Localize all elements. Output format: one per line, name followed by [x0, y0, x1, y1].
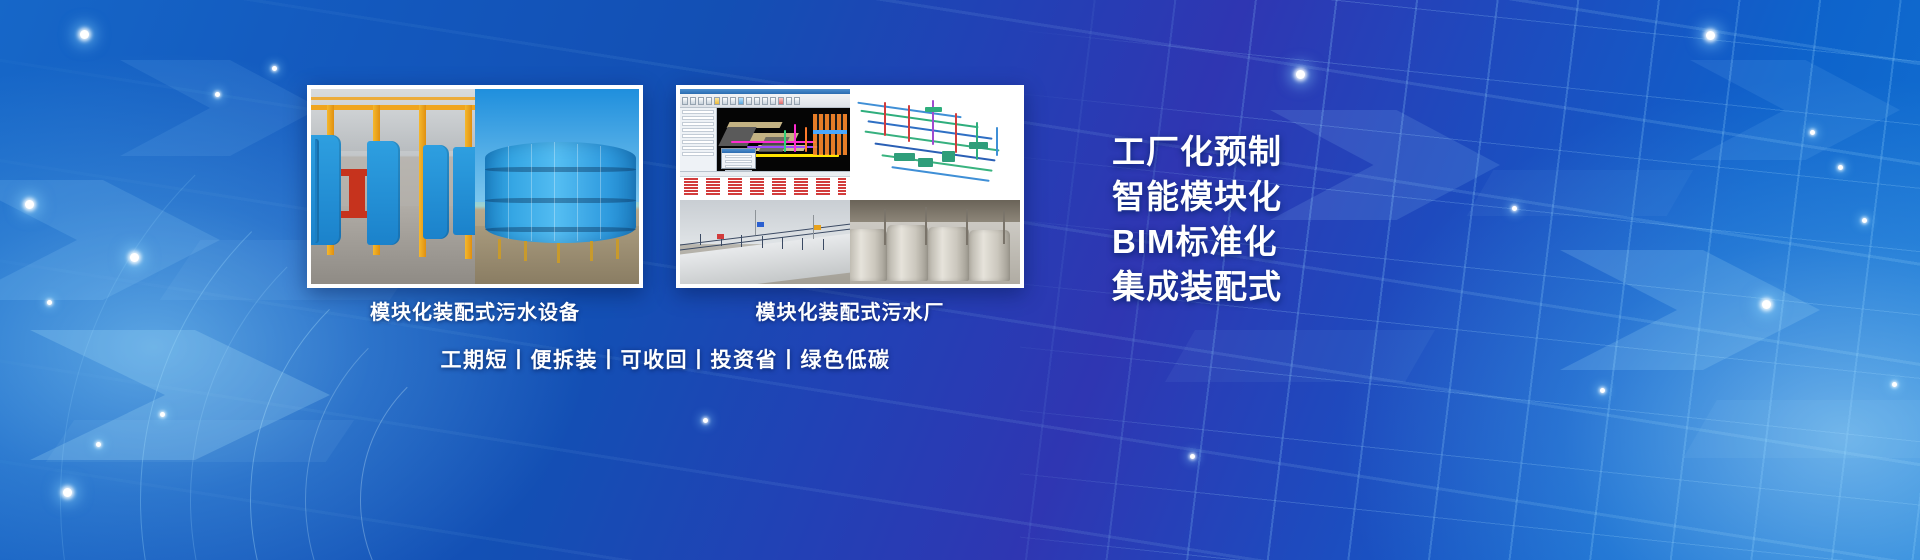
- card-equipment[interactable]: [307, 85, 643, 288]
- polygon-shard-decoration: [46, 420, 354, 462]
- chevron-decoration: [1270, 110, 1500, 220]
- chevron-decoration: [120, 60, 320, 156]
- headline-line-4: 集成装配式: [1112, 268, 1282, 307]
- glow-dot: [215, 92, 220, 97]
- caption-equipment: 模块化装配式污水设备: [307, 296, 643, 325]
- glow-dot: [130, 253, 139, 262]
- chevron-decoration: [1690, 60, 1900, 160]
- flag-icon: [717, 234, 724, 239]
- photo-piping-isometric: [850, 89, 1020, 200]
- glow-dot: [703, 418, 708, 423]
- glow-dot: [1512, 206, 1517, 211]
- photo-grey-tanks: [850, 200, 1020, 284]
- photo-bim-cad-software: [680, 89, 850, 200]
- glow-dot: [1892, 382, 1897, 387]
- caption-plant: 模块化装配式污水厂: [676, 296, 1024, 325]
- glow-dot: [63, 488, 72, 497]
- photo-blue-panels-workshop: [311, 89, 475, 284]
- glow-dot: [96, 442, 101, 447]
- glow-dot: [1600, 388, 1605, 393]
- polygon-shard-decoration: [1683, 400, 1920, 458]
- flag-icon: [757, 222, 764, 227]
- headline-line-2: 智能模块化: [1112, 178, 1282, 217]
- glow-dot: [1706, 31, 1715, 40]
- photo-blue-bolted-tank: [475, 89, 639, 284]
- chevron-decoration: [30, 330, 330, 460]
- headline-block: 工厂化预制 智能模块化 BIM标准化 集成装配式: [1112, 133, 1282, 307]
- glow-dot: [47, 300, 52, 305]
- glow-dot: [1190, 454, 1195, 459]
- headline-line-3: BIM标准化: [1112, 223, 1282, 262]
- glow-dot: [25, 200, 34, 209]
- tagline: 工期短丨便拆装丨可收回丨投资省丨绿色低碳: [307, 344, 1024, 374]
- glow-dot: [1838, 165, 1843, 170]
- glow-dot: [1762, 300, 1771, 309]
- photo-plant-platform: [680, 200, 850, 284]
- hero-banner: 模块化装配式污水设备: [0, 0, 1920, 560]
- flag-icon: [814, 225, 821, 230]
- glow-dot: [160, 412, 165, 417]
- glow-dot: [1296, 70, 1305, 79]
- polygon-shard-decoration: [1165, 330, 1435, 382]
- glow-dot: [1862, 218, 1867, 223]
- polygon-shard-decoration: [1467, 170, 1694, 216]
- card-plant[interactable]: [676, 85, 1024, 288]
- glow-dot: [272, 66, 277, 71]
- glow-dot: [1810, 130, 1815, 135]
- chevron-decoration: [1560, 250, 1820, 370]
- chevron-decoration: [0, 180, 220, 300]
- glow-dot: [80, 30, 89, 39]
- headline-line-1: 工厂化预制: [1112, 133, 1282, 172]
